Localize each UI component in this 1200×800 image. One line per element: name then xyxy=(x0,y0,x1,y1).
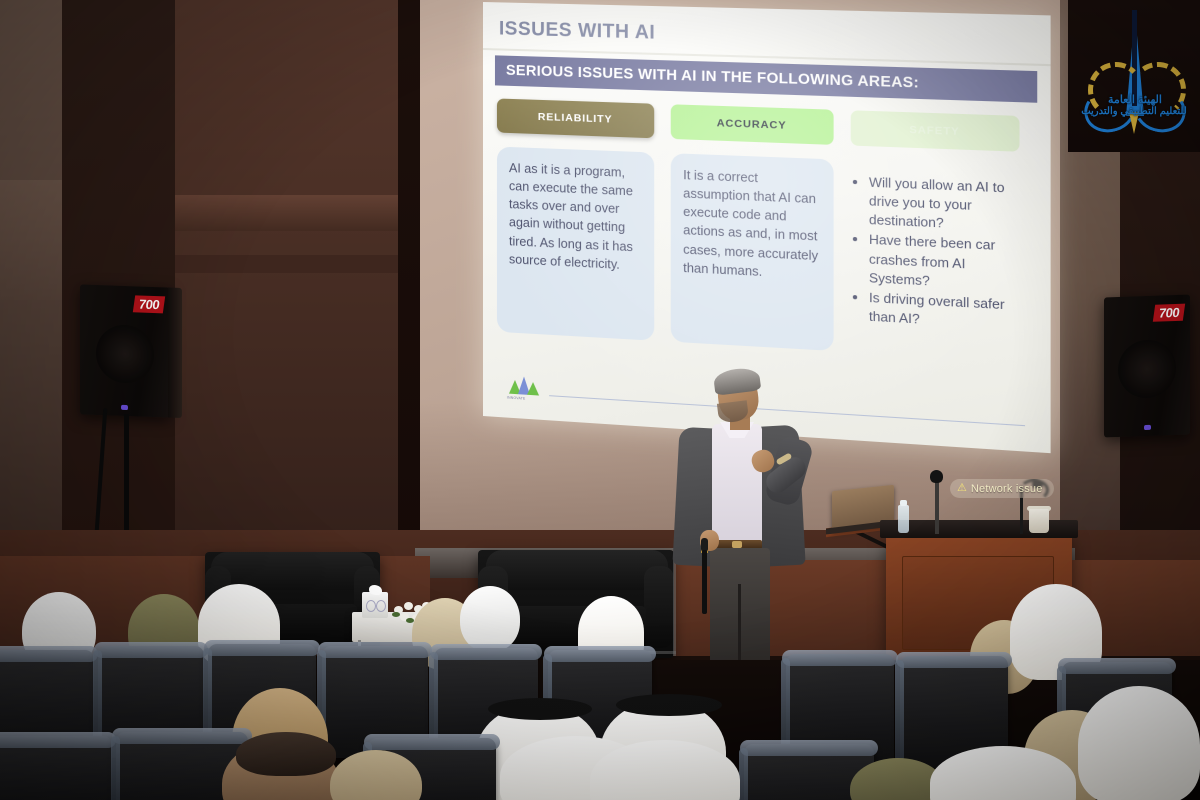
slide-title: ISSUES WITH AI xyxy=(499,18,655,44)
pa-speaker-left: 700 xyxy=(80,284,170,417)
tissue-sheet xyxy=(369,585,382,595)
speaker-power-led xyxy=(121,405,128,410)
pa-speaker-right: 700 xyxy=(1104,294,1190,437)
chip-accuracy: ACCURACY xyxy=(671,104,834,145)
presenter-belt-buckle xyxy=(732,541,742,548)
pa-speaker-left-badge: 700 xyxy=(133,295,166,313)
network-issue-message: Network issue xyxy=(971,483,1043,495)
chip-reliability: RELIABILITY xyxy=(497,98,654,138)
mid-wood-wall xyxy=(175,0,410,560)
tissue-box xyxy=(362,592,388,618)
textbox-reliability: AI as it is a program, can execute the s… xyxy=(497,147,654,341)
speaker-cone-icon xyxy=(1118,339,1176,399)
slide-footer-logo-caption: INNOVATE xyxy=(507,396,543,402)
paaet-logo: الهيئة العامة للتعليم التطبيقي والتدريب xyxy=(1068,0,1200,152)
list-item: Will you allow an AI to drive you to you… xyxy=(869,173,1006,236)
attendee-ghutra-2-agal xyxy=(488,698,592,720)
coffee-cup xyxy=(1029,509,1049,533)
warning-triangle-icon: ⚠ xyxy=(957,483,967,494)
wall-trim-band xyxy=(175,195,410,231)
list-item: Is driving overall safer than AI? xyxy=(869,288,1006,333)
logo-arabic-line-2: للتعليم التطبيقي والتدريب xyxy=(1074,106,1194,117)
slide-chip-row: RELIABILITY ACCURACY SAFETY xyxy=(497,98,1040,152)
textbox-accuracy: It is a correct assumption that AI can e… xyxy=(671,153,834,351)
network-issue-toast[interactable]: ⚠ Network issue xyxy=(950,479,1054,498)
auditorium-scene: ISSUES WITH AI SERIOUS ISSUES WITH AI IN… xyxy=(0,0,1200,800)
podium-microphone-stand xyxy=(935,478,939,534)
left-dark-wall xyxy=(62,0,182,560)
water-bottle-cap xyxy=(900,500,907,506)
chip-safety: SAFETY xyxy=(851,110,1020,151)
slide-banner-text: SERIOUS ISSUES WITH AI IN THE FOLLOWING … xyxy=(506,63,919,92)
safety-bullet-list: Will you allow an AI to drive you to you… xyxy=(853,173,1006,334)
wall-trim-band-lower xyxy=(175,255,410,273)
slide-columns: RELIABILITY ACCURACY SAFETY AI as it is … xyxy=(497,98,1040,362)
podium-microphone-icon xyxy=(930,470,943,483)
attendee-hijab-white-2 xyxy=(460,586,520,652)
list-item: Have there been car crashes from AI Syst… xyxy=(869,231,1006,295)
speaker-power-led xyxy=(1144,425,1151,430)
handheld-microphone-body xyxy=(702,550,707,614)
pa-speaker-right-badge: 700 xyxy=(1153,304,1186,322)
presenter xyxy=(668,372,818,662)
attendee-bald-hair xyxy=(236,732,336,776)
slide-text-row: AI as it is a program, can execute the s… xyxy=(497,147,1040,363)
left-wall-panel xyxy=(0,180,70,300)
screen-left-frame xyxy=(398,0,420,560)
water-bottle xyxy=(898,505,909,533)
presenter-shirt xyxy=(712,424,762,544)
slide-footer-logo: INNOVATE xyxy=(507,375,541,401)
textbox-safety: Will you allow an AI to drive you to you… xyxy=(851,160,1020,361)
auditorium-chair[interactable] xyxy=(0,736,112,800)
attendee-ghutra-6 xyxy=(1078,686,1200,800)
speaker-cone-icon xyxy=(96,324,154,384)
audience-seating xyxy=(0,640,1200,800)
attendee-ghutra-3-agal xyxy=(616,694,722,716)
logo-arabic-line-1: الهيئة العامة xyxy=(1080,93,1190,106)
